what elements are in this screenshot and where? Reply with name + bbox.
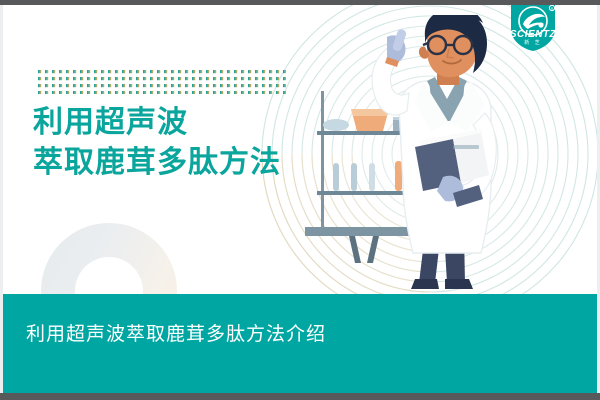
- canvas-left-edge: [0, 5, 3, 393]
- headline-line-2: 萃取鹿茸多肽方法: [33, 143, 363, 183]
- caption-banner: 利用超声波萃取鹿茸多肽方法介绍: [3, 294, 597, 393]
- poster-root: 利用超声波 萃取鹿茸多肽方法 利用超声波萃取鹿茸多肽方法介绍 R SCIENTZ…: [0, 0, 600, 400]
- page-title: 利用超声波 萃取鹿茸多肽方法: [33, 103, 363, 183]
- poster-canvas: 利用超声波 萃取鹿茸多肽方法 利用超声波萃取鹿茸多肽方法介绍 R SCIENTZ…: [3, 5, 597, 393]
- brand-logo[interactable]: R SCIENTZ 新 芝: [497, 5, 569, 53]
- headline-line-1: 利用超声波: [33, 106, 188, 139]
- banner-caption-text: 利用超声波萃取鹿茸多肽方法介绍: [26, 322, 326, 348]
- window-bottom-bar: [0, 393, 600, 400]
- logo-brand-sub: 新 芝: [497, 39, 569, 46]
- dot-grid-decoration: [38, 70, 286, 94]
